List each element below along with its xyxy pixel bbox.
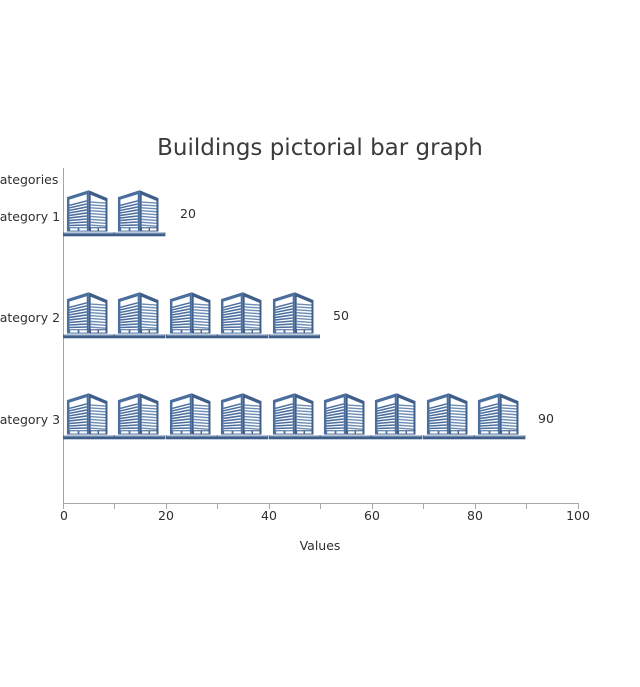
- value-label-3: 90: [538, 411, 554, 426]
- value-label-1: 20: [180, 206, 196, 221]
- building-icon: [114, 185, 165, 237]
- building-icon: [269, 287, 320, 339]
- pictorial-bar-chart: Buildings pictorial bar graph Categories…: [0, 0, 640, 687]
- picto-bar-row-2: [63, 287, 320, 347]
- building-icon: [320, 388, 371, 440]
- x-tick-30: [217, 503, 218, 509]
- x-tick-50: [320, 503, 321, 509]
- picto-icon-group-1: [63, 185, 166, 237]
- building-icon: [114, 287, 165, 339]
- building-icon: [423, 388, 474, 440]
- building-icon: [217, 287, 268, 339]
- building-icon: [114, 388, 165, 440]
- building-icon: [217, 388, 268, 440]
- category-label-1: Category 1: [0, 209, 57, 224]
- x-tick-70: [423, 503, 424, 509]
- building-icon: [63, 287, 114, 339]
- building-icon: [63, 185, 114, 237]
- chart-title: Buildings pictorial bar graph: [0, 135, 640, 161]
- building-icon: [63, 388, 114, 440]
- y-axis-title: Categories: [0, 172, 57, 187]
- x-tick-label-60: 60: [364, 508, 380, 523]
- picto-icon-group-3: [63, 388, 526, 440]
- x-tick-label-0: 0: [60, 508, 68, 523]
- x-tick-10: [114, 503, 115, 509]
- category-label-3: Category 3: [0, 412, 57, 427]
- building-icon: [371, 388, 422, 440]
- x-tick-label-40: 40: [261, 508, 277, 523]
- category-label-2: Category 2: [0, 310, 57, 325]
- x-tick-label-100: 100: [566, 508, 590, 523]
- picto-bar-row-3: [63, 388, 526, 448]
- picto-icon-group-2: [63, 287, 320, 339]
- x-tick-label-20: 20: [158, 508, 174, 523]
- x-tick-label-80: 80: [467, 508, 483, 523]
- building-icon: [269, 388, 320, 440]
- building-icon: [166, 388, 217, 440]
- x-tick-90: [526, 503, 527, 509]
- building-icon: [166, 287, 217, 339]
- value-label-2: 50: [333, 308, 349, 323]
- picto-bar-row-1: [63, 185, 166, 245]
- building-icon: [474, 388, 525, 440]
- x-axis-title: Values: [0, 538, 640, 553]
